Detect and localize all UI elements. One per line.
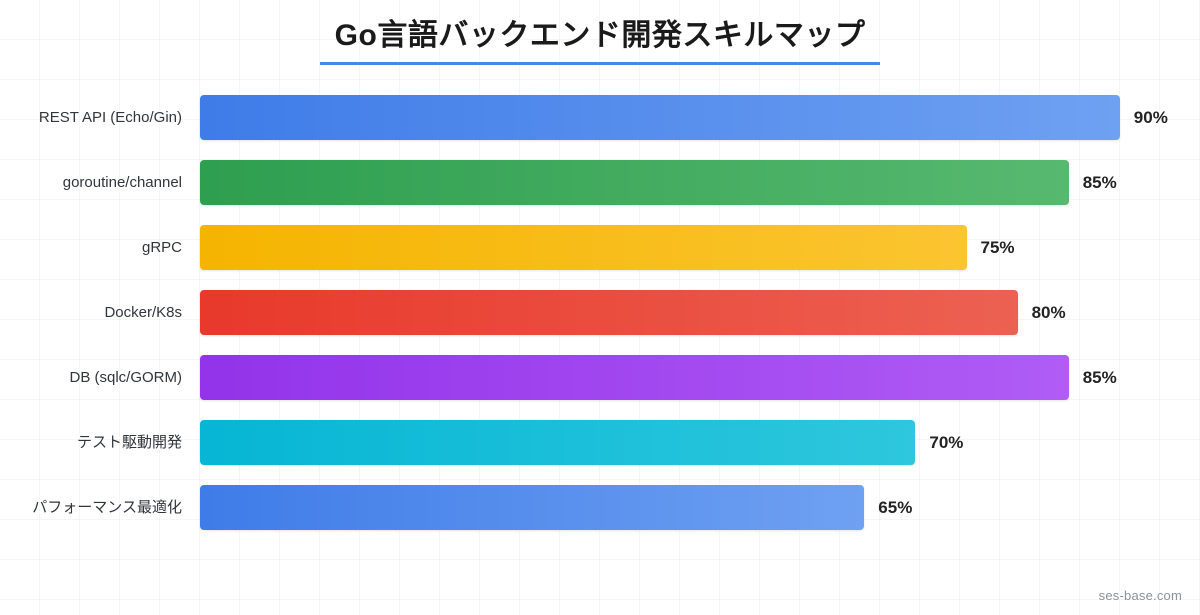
- bar-value-label: 80%: [1032, 290, 1066, 335]
- bar-category-label: gRPC: [0, 225, 182, 270]
- bar-value-label: 85%: [1083, 355, 1117, 400]
- bar-fill: [200, 485, 864, 530]
- bar-value-label: 90%: [1134, 95, 1168, 140]
- bar-row: パフォーマンス最適化65%: [0, 485, 1200, 530]
- bar-row: テスト駆動開発70%: [0, 420, 1200, 465]
- bar-track: [200, 290, 1018, 335]
- bar-fill: [200, 355, 1069, 400]
- bar-category-label: パフォーマンス最適化: [0, 485, 182, 530]
- bar-value-label: 85%: [1083, 160, 1117, 205]
- bar-category-label: goroutine/channel: [0, 160, 182, 205]
- bar-category-label: DB (sqlc/GORM): [0, 355, 182, 400]
- bar-fill: [200, 420, 915, 465]
- bar-value-label: 65%: [878, 485, 912, 530]
- bar-track: [200, 355, 1069, 400]
- bar-fill: [200, 225, 967, 270]
- bar-fill: [200, 290, 1018, 335]
- bar-fill: [200, 95, 1120, 140]
- bar-row: Docker/K8s80%: [0, 290, 1200, 335]
- bar-row: gRPC75%: [0, 225, 1200, 270]
- bar-track: [200, 485, 864, 530]
- bar-value-label: 70%: [929, 420, 963, 465]
- bar-track: [200, 225, 967, 270]
- skill-map-bar-chart: Go言語バックエンド開発スキルマップ REST API (Echo/Gin)90…: [0, 0, 1200, 615]
- bar-row: goroutine/channel85%: [0, 160, 1200, 205]
- bar-category-label: テスト駆動開発: [0, 420, 182, 465]
- bar-value-label: 75%: [981, 225, 1015, 270]
- chart-title-underline: [320, 62, 880, 65]
- bar-row: REST API (Echo/Gin)90%: [0, 95, 1200, 140]
- bar-row: DB (sqlc/GORM)85%: [0, 355, 1200, 400]
- chart-plot-area: REST API (Echo/Gin)90%goroutine/channel8…: [0, 95, 1200, 545]
- site-watermark: ses-base.com: [1099, 588, 1182, 603]
- bar-fill: [200, 160, 1069, 205]
- bar-track: [200, 420, 915, 465]
- chart-title: Go言語バックエンド開発スキルマップ: [331, 16, 870, 62]
- bar-category-label: REST API (Echo/Gin): [0, 95, 182, 140]
- bar-track: [200, 95, 1120, 140]
- bar-track: [200, 160, 1069, 205]
- bar-category-label: Docker/K8s: [0, 290, 182, 335]
- chart-title-block: Go言語バックエンド開発スキルマップ: [0, 16, 1200, 65]
